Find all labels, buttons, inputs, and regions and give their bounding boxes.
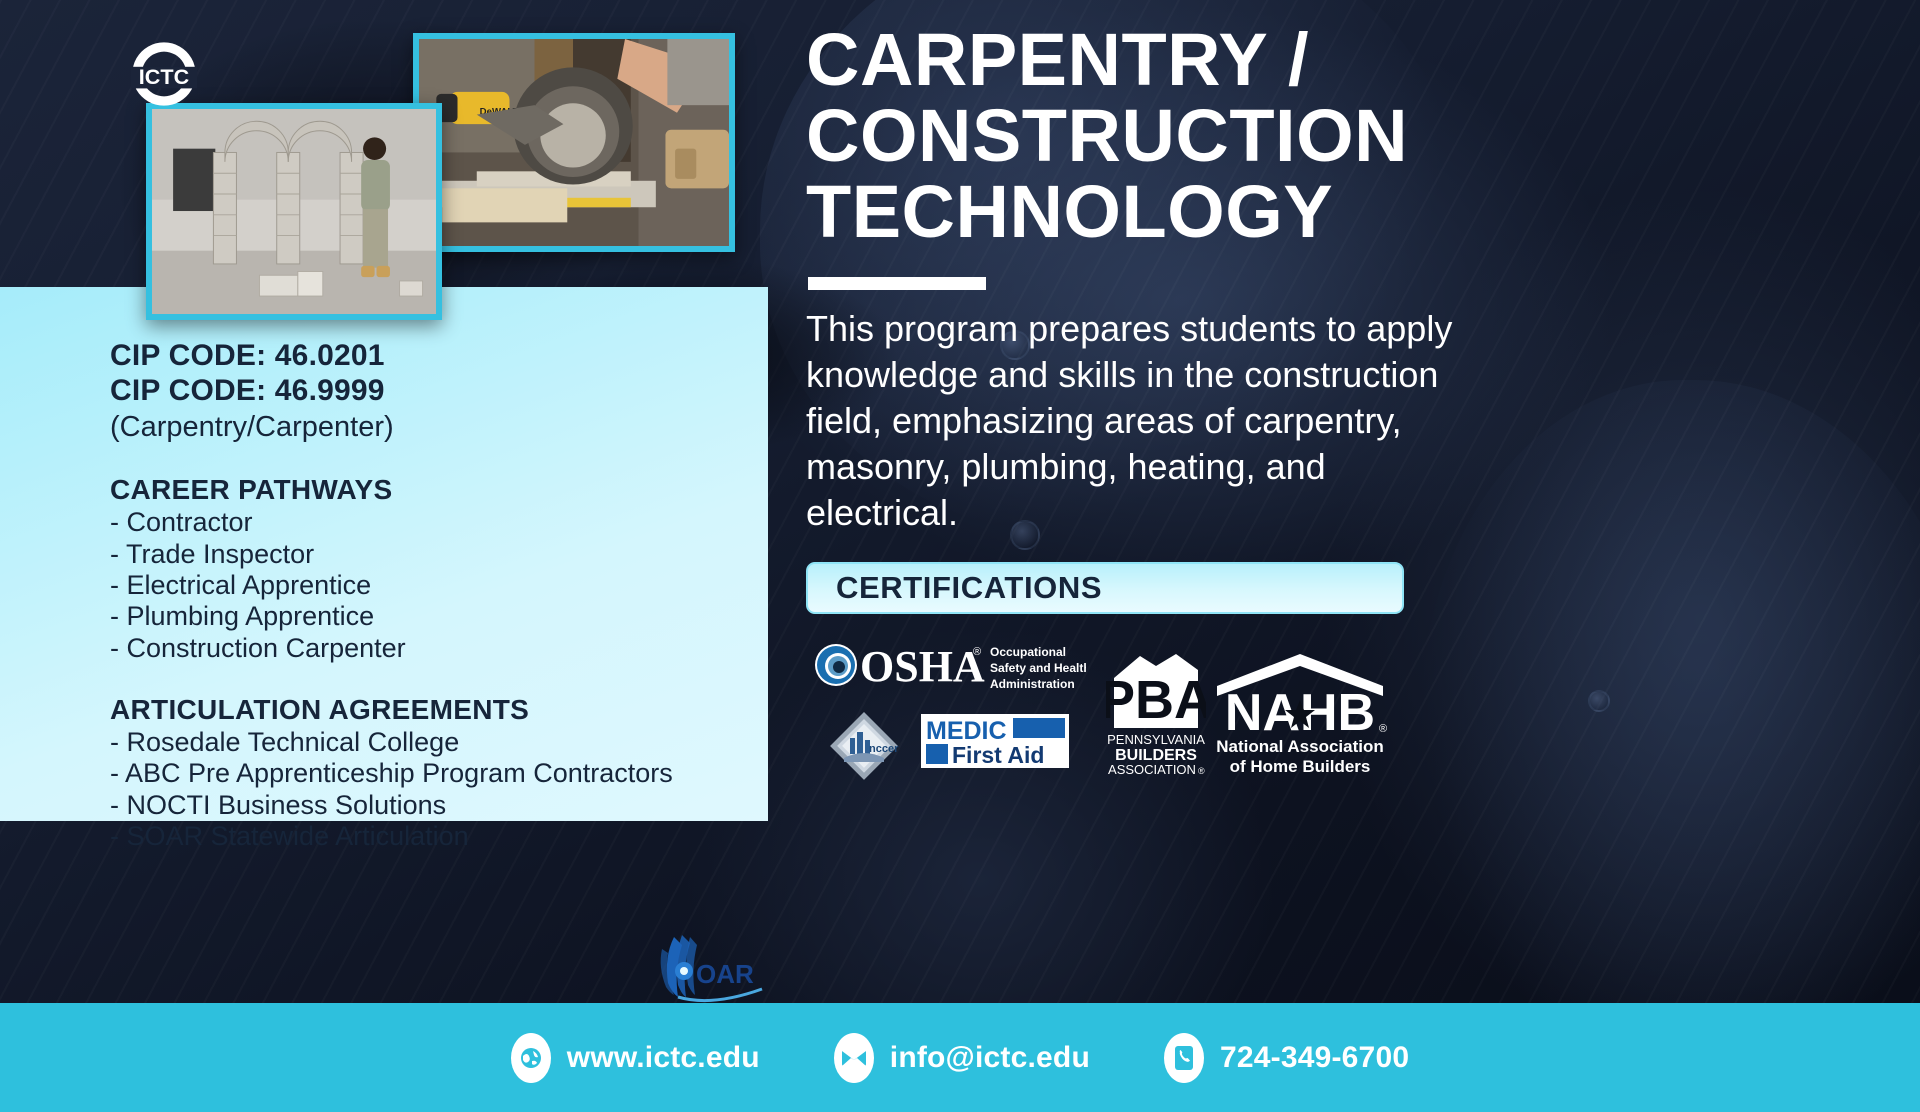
osha-logo: OSHA ® Occupational Safety and Health Ad… xyxy=(814,641,1086,693)
photo-masonry-arch xyxy=(146,103,442,320)
program-description: This program prepares students to apply … xyxy=(806,306,1471,536)
list-item: - Electrical Apprentice xyxy=(110,570,768,601)
contact-email[interactable]: info@ictc.edu xyxy=(834,1033,1090,1083)
cip-subtitle: (Carpentry/Carpenter) xyxy=(110,410,768,445)
contact-website-text: www.ictc.edu xyxy=(567,1041,760,1075)
list-item: - Construction Carpenter xyxy=(110,633,768,664)
certifications-banner-label: CERTIFICATIONS xyxy=(836,570,1102,606)
title-divider xyxy=(808,277,986,290)
nahb-line-1: National Association xyxy=(1216,737,1384,756)
career-pathways-heading: CAREER PATHWAYS xyxy=(110,474,768,506)
certification-logos: OSHA ® Occupational Safety and Health Ad… xyxy=(806,636,1426,776)
pba-registered-mark: ® xyxy=(1198,766,1205,774)
list-item: - NOCTI Business Solutions xyxy=(110,790,768,821)
soar-logo-text: OAR xyxy=(696,959,754,989)
envelope-icon xyxy=(834,1033,874,1083)
medic-first-aid-logo: MEDIC First Aid xyxy=(921,714,1069,768)
osha-acronym: OSHA xyxy=(860,642,985,691)
osha-registered-mark: ® xyxy=(973,646,981,658)
contact-footer: www.ictc.edu info@ictc.edu 724-349-6700 xyxy=(0,1003,1920,1112)
title-line-2: CONSTRUCTION xyxy=(806,94,1408,177)
nahb-logo: NAHB ® National Association of Home Buil… xyxy=(1211,652,1389,774)
medic-line-2: First Aid xyxy=(952,742,1044,768)
osha-subtitle-line-1: Occupational xyxy=(990,645,1066,659)
photo-miter-saw: DeWALT xyxy=(413,33,735,252)
title-line-1: CARPENTRY / xyxy=(806,18,1309,101)
list-item: - Contractor xyxy=(110,507,768,538)
list-item: - Trade Inspector xyxy=(110,539,768,570)
background-bolt-icon xyxy=(1588,690,1610,712)
contact-website[interactable]: www.ictc.edu xyxy=(511,1033,760,1083)
globe-icon xyxy=(511,1033,551,1083)
osha-subtitle-line-2: Safety and Health xyxy=(990,661,1086,675)
pba-line-1: PENNSYLVANIA xyxy=(1107,732,1205,747)
pba-line-3: ASSOCIATION xyxy=(1108,762,1196,774)
list-item: - SOAR Statewide Articulation xyxy=(110,821,768,852)
nahb-registered-mark: ® xyxy=(1379,723,1387,735)
articulation-agreements-list: - Rosedale Technical College - ABC Pre A… xyxy=(110,727,768,852)
title-line-3: TECHNOLOGY xyxy=(806,170,1333,253)
program-info-panel: CIP CODE: 46.0201 CIP CODE: 46.9999 (Car… xyxy=(0,287,768,821)
certifications-banner: CERTIFICATIONS xyxy=(806,562,1404,614)
articulation-agreements-heading: ARTICULATION AGREEMENTS xyxy=(110,694,768,726)
ictc-logo: ICTC xyxy=(128,38,200,110)
list-item: - Rosedale Technical College xyxy=(110,727,768,758)
contact-phone[interactable]: 724-349-6700 xyxy=(1164,1033,1409,1083)
soar-logo: OAR xyxy=(648,927,768,1007)
list-item: - Plumbing Apprentice xyxy=(110,601,768,632)
contact-email-text: info@ictc.edu xyxy=(890,1041,1090,1075)
cip-code-primary: CIP CODE: 46.0201 xyxy=(110,339,768,374)
contact-phone-text: 724-349-6700 xyxy=(1220,1041,1409,1075)
nccer-acronym: nccer xyxy=(869,743,899,755)
cip-code-secondary: CIP CODE: 46.9999 xyxy=(110,374,768,409)
list-item: - ABC Pre Apprenticeship Program Contrac… xyxy=(110,758,768,789)
ictc-logo-text: ICTC xyxy=(139,64,189,89)
pba-acronym: PBA xyxy=(1106,670,1206,730)
program-content: CARPENTRY / CONSTRUCTION TECHNOLOGY This… xyxy=(806,22,1891,614)
page-title: CARPENTRY / CONSTRUCTION TECHNOLOGY xyxy=(806,22,1891,251)
program-poster: ICTC DeWALT xyxy=(0,0,1920,1112)
medic-line-1: MEDIC xyxy=(926,717,1007,745)
career-pathways-list: - Contractor - Trade Inspector - Electri… xyxy=(110,507,768,664)
nahb-line-2: of Home Builders xyxy=(1230,757,1371,774)
phone-icon xyxy=(1164,1033,1204,1083)
osha-subtitle-line-3: Administration xyxy=(990,677,1075,691)
pba-logo: PBA PENNSYLVANIA BUILDERS ASSOCIATION ® xyxy=(1106,648,1206,774)
nccer-logo: nccer xyxy=(828,710,900,782)
